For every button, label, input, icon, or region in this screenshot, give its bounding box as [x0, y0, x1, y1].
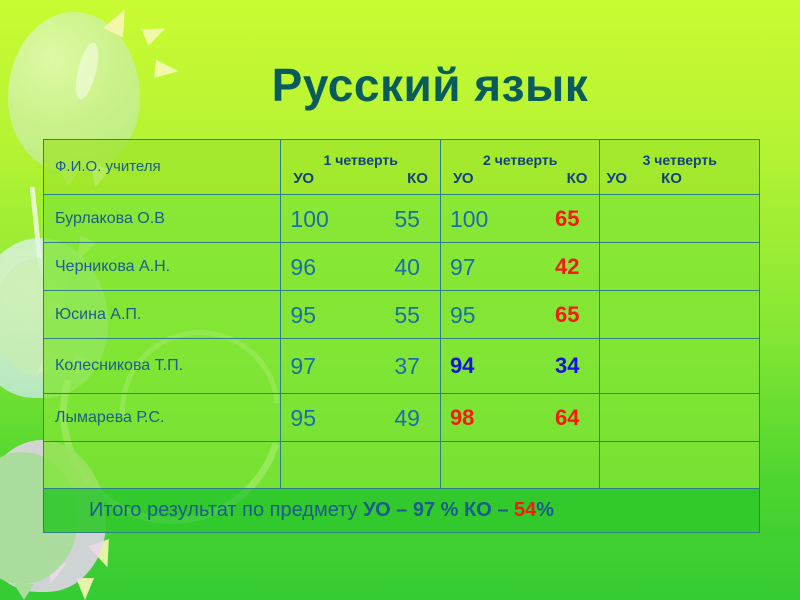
- value-ko: 40: [394, 254, 426, 280]
- header-cell-quarter-2: 2 четверть УО КО: [440, 140, 600, 195]
- value-uo: 98: [450, 405, 474, 431]
- header-label-teacher-name: Ф.И.О. учителя: [44, 158, 161, 175]
- cell-quarter-1: 9549: [281, 394, 441, 442]
- cell-quarter-1: 9555: [281, 291, 441, 339]
- value-ko: 49: [394, 405, 426, 431]
- cell-quarter-3: [600, 195, 760, 243]
- cell-quarter-1: [281, 442, 441, 489]
- table-row: Лымарева Р.С. 9549 9864: [44, 394, 760, 442]
- teacher-name-label: Бурлакова О.В: [44, 210, 165, 227]
- cell-teacher-name: Черникова А.Н.: [44, 243, 281, 291]
- header-sublabels-quarter-2: УО КО: [441, 168, 600, 188]
- slide-canvas: Русский язык Ф.И.О. учителя 1 четверть У…: [0, 0, 800, 600]
- teacher-name-label: Юсина А.П.: [44, 306, 141, 323]
- table-header: Ф.И.О. учителя 1 четверть УО КО 2 четвер…: [44, 140, 760, 195]
- cell-teacher-name: Колесникова Т.П.: [44, 339, 281, 394]
- confetti-ray-icon: [103, 4, 134, 37]
- header-label-quarter-2: 2 четверть: [441, 147, 600, 168]
- header-label-quarter-3: 3 четверть: [600, 147, 759, 168]
- cell-teacher-name: [44, 442, 281, 489]
- header-cell-quarter-1: 1 четверть УО КО: [281, 140, 441, 195]
- value-ko: 64: [555, 405, 585, 431]
- value-uo: 97: [290, 353, 316, 379]
- cell-teacher-name: Бурлакова О.В: [44, 195, 281, 243]
- grades-table-container: Ф.И.О. учителя 1 четверть УО КО 2 четвер…: [43, 139, 760, 533]
- value-uo: 95: [450, 302, 476, 328]
- value-ko: 65: [555, 302, 585, 328]
- table-row: Бурлакова О.В 10055 10065: [44, 195, 760, 243]
- cell-teacher-name: Лымарева Р.С.: [44, 394, 281, 442]
- total-result-label: Итого результат по предмету УО – 97 % КО…: [44, 499, 554, 521]
- header-cell-teacher-name: Ф.И.О. учителя: [44, 140, 281, 195]
- teacher-name-label: Черникова А.Н.: [44, 258, 170, 275]
- value-uo: 96: [290, 254, 316, 280]
- total-ko-value: 54: [514, 499, 536, 521]
- cell-quarter-1: 10055: [281, 195, 441, 243]
- teacher-name-label: [44, 456, 55, 473]
- table-row: Колесникова Т.П. 9737 9434: [44, 339, 760, 394]
- cell-quarter-1: 9737: [281, 339, 441, 394]
- header-sublabels-quarter-3: УО КО: [600, 168, 759, 188]
- total-prefix: Итого результат по предмету: [89, 499, 363, 521]
- grades-table: Ф.И.О. учителя 1 четверть УО КО 2 четвер…: [43, 139, 760, 533]
- header-label-uo-q2: УО: [453, 169, 474, 188]
- value-uo: 94: [450, 353, 474, 379]
- header-cell-quarter-3: 3 четверть УО КО: [600, 140, 760, 195]
- value-ko: 65: [555, 206, 585, 232]
- value-ko: 34: [555, 353, 585, 379]
- cell-teacher-name: Юсина А.П.: [44, 291, 281, 339]
- value-uo: 100: [450, 206, 488, 232]
- cell-quarter-2: 9742: [440, 243, 600, 291]
- cell-quarter-3: [600, 442, 760, 489]
- confetti-ray-icon: [41, 558, 67, 587]
- total-ko-prefix: КО –: [464, 499, 514, 521]
- value-uo: 97: [450, 254, 476, 280]
- footer-cell-total: Итого результат по предмету УО – 97 % КО…: [44, 489, 760, 533]
- value-uo: 100: [290, 206, 328, 232]
- teacher-name-label: Лымарева Р.С.: [44, 409, 164, 426]
- header-label-ko-q3: КО: [661, 169, 682, 188]
- cell-quarter-2: 9565: [440, 291, 600, 339]
- table-footer: Итого результат по предмету УО – 97 % КО…: [44, 489, 760, 533]
- cell-quarter-3: [600, 243, 760, 291]
- header-row: Ф.И.О. учителя 1 четверть УО КО 2 четвер…: [44, 140, 760, 195]
- table-row: [44, 442, 760, 489]
- balloon-knot-icon: [14, 584, 34, 600]
- confetti-ray-icon: [88, 539, 118, 571]
- cell-quarter-2: 10065: [440, 195, 600, 243]
- table-row: Черникова А.Н. 9640 9742: [44, 243, 760, 291]
- total-ko-suffix: %: [536, 499, 554, 521]
- value-uo: 95: [290, 405, 316, 431]
- footer-row: Итого результат по предмету УО – 97 % КО…: [44, 489, 760, 533]
- table-body: Бурлакова О.В 10055 10065 Черникова А.Н.…: [44, 195, 760, 489]
- cell-quarter-1: 9640: [281, 243, 441, 291]
- header-label-ko-q1: КО: [407, 169, 428, 188]
- confetti-ray-icon: [141, 20, 168, 45]
- value-ko: 37: [394, 353, 426, 379]
- header-sublabels-quarter-1: УО КО: [281, 168, 440, 188]
- page-title: Русский язык: [0, 58, 800, 112]
- cell-quarter-3: [600, 291, 760, 339]
- value-uo: 95: [290, 302, 316, 328]
- header-label-ko-q2: КО: [567, 169, 588, 188]
- cell-quarter-2: 9864: [440, 394, 600, 442]
- value-ko: 55: [394, 302, 426, 328]
- table-row: Юсина А.П. 9555 9565: [44, 291, 760, 339]
- cell-quarter-2: [440, 442, 600, 489]
- cell-quarter-3: [600, 394, 760, 442]
- cell-quarter-3: [600, 339, 760, 394]
- value-ko: 42: [555, 254, 585, 280]
- value-ko: 55: [394, 206, 426, 232]
- total-uo-value: УО – 97 %: [363, 499, 458, 521]
- teacher-name-label: Колесникова Т.П.: [44, 357, 183, 374]
- header-label-uo-q3: УО: [606, 169, 627, 188]
- confetti-ray-icon: [76, 578, 94, 600]
- header-label-uo-q1: УО: [293, 169, 314, 188]
- header-label-quarter-1: 1 четверть: [281, 147, 440, 168]
- cell-quarter-2: 9434: [440, 339, 600, 394]
